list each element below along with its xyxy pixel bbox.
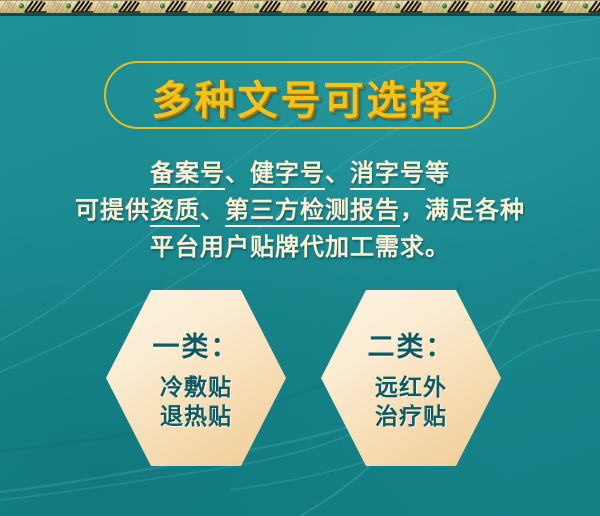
body-segment-underlined: 备案号 [150, 161, 225, 190]
body-segment: 、 [325, 161, 350, 187]
category-hexagon-2: 二类： 远红外 治疗贴 [321, 290, 501, 466]
body-segment: 等 [425, 161, 450, 187]
body-line: 备案号、健字号、消字号等 [0, 156, 600, 193]
category-hexagon-1-content: 一类： 冷敷贴 退热贴 [106, 290, 286, 466]
top-ornamental-border [0, 0, 600, 16]
border-motif-pattern [0, 0, 600, 13]
body-copy: 备案号、健字号、消字号等 可提供资质、第三方检测报告，满足各种 平台用户贴牌代加… [0, 156, 600, 267]
body-segment: 平台用户贴牌代加工需求。 [150, 235, 450, 261]
category-1-heading: 一类： [153, 325, 240, 364]
category-2-item-1: 远红外 [375, 373, 447, 402]
category-hexagon-2-content: 二类： 远红外 治疗贴 [321, 290, 501, 466]
poster-canvas: 多种文号可选择 备案号、健字号、消字号等 可提供资质、第三方检测报告，满足各种 … [0, 0, 600, 516]
body-segment: ，满足各种 [400, 198, 525, 224]
body-segment-underlined: 健字号 [250, 161, 325, 190]
body-line: 平台用户贴牌代加工需求。 [0, 230, 600, 267]
body-segment: 可提供 [75, 198, 150, 224]
body-line: 可提供资质、第三方检测报告，满足各种 [0, 193, 600, 230]
category-2-heading: 二类： [368, 325, 455, 364]
body-segment-underlined: 资质 [150, 198, 200, 227]
page-title: 多种文号可选择 [106, 63, 498, 131]
title-pill-frame: 多种文号可选择 [104, 61, 496, 129]
body-segment: 、 [200, 198, 225, 224]
category-1-item-1: 冷敷贴 [160, 373, 232, 402]
body-segment-underlined: 第三方检测报告 [225, 198, 400, 227]
category-hexagon-1: 一类： 冷敷贴 退热贴 [106, 290, 286, 466]
category-2-item-2: 治疗贴 [375, 402, 447, 431]
border-underline [0, 13, 600, 16]
body-segment-underlined: 消字号 [350, 161, 425, 190]
body-segment: 、 [225, 161, 250, 187]
category-1-item-2: 退热贴 [160, 402, 232, 431]
